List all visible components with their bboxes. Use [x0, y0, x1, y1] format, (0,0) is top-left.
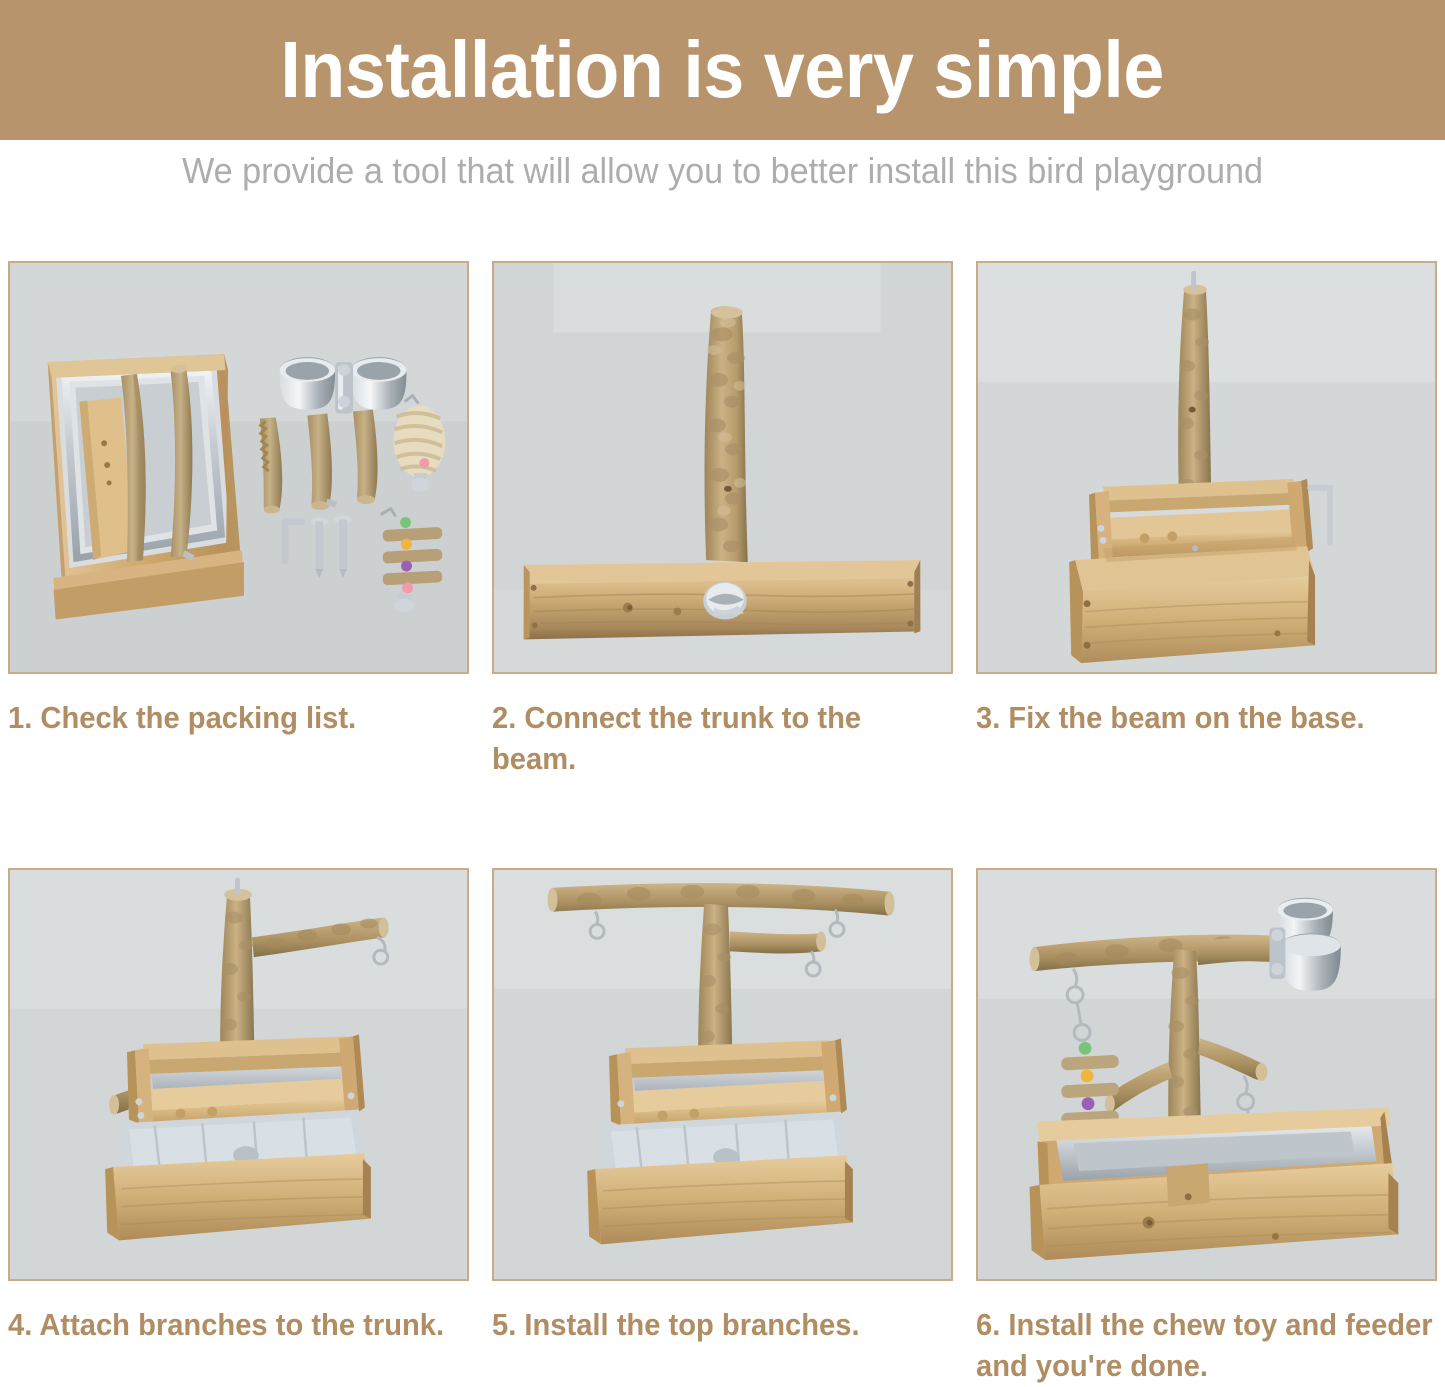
chew-toy-and-feeder-photo	[976, 868, 1437, 1281]
top-branches-illustration	[494, 870, 951, 1279]
step-caption: 5. Install the top branches.	[492, 1305, 951, 1346]
page-subtitle: We provide a tool that will allow you to…	[36, 150, 1409, 192]
step-caption: 1. Check the packing list.	[8, 698, 467, 739]
step-1: 1. Check the packing list.	[8, 261, 469, 780]
attach-branches-photo	[8, 868, 469, 1281]
step-3: 3. Fix the beam on the base.	[976, 261, 1437, 780]
feeder-cups	[1269, 898, 1340, 991]
trunk-to-beam-photo	[492, 261, 953, 674]
step-5: 5. Install the top branches.	[492, 868, 953, 1387]
packing-list-photo	[8, 261, 469, 674]
step-caption: 2. Connect the trunk to the beam.	[492, 698, 951, 780]
page-title: Installation is very simple	[281, 30, 1164, 110]
step-4: 4. Attach branches to the trunk.	[8, 868, 469, 1387]
beam-on-base-photo	[976, 261, 1437, 674]
step-caption: 4. Attach branches to the trunk.	[8, 1305, 467, 1346]
step-2: 2. Connect the trunk to the beam.	[492, 261, 953, 780]
packing-list-illustration	[10, 263, 467, 672]
step-6: 6. Install the chew toy and feeder and y…	[976, 868, 1437, 1387]
top-branches-photo	[492, 868, 953, 1281]
trunk-to-beam-illustration	[494, 263, 951, 672]
step-caption: 3. Fix the beam on the base.	[976, 698, 1435, 739]
steps-row-1: 1. Check the packing list.	[8, 261, 1437, 780]
steps-grid: 1. Check the packing list.	[8, 261, 1437, 1387]
step-caption: 6. Install the chew toy and feeder and y…	[976, 1305, 1435, 1387]
attach-branches-illustration	[10, 870, 467, 1279]
steps-row-2: 4. Attach branches to the trunk.	[8, 868, 1437, 1387]
header-band: Installation is very simple	[0, 0, 1445, 140]
beam-on-base-illustration	[978, 263, 1435, 672]
chew-toy-and-feeder-illustration	[978, 870, 1435, 1279]
